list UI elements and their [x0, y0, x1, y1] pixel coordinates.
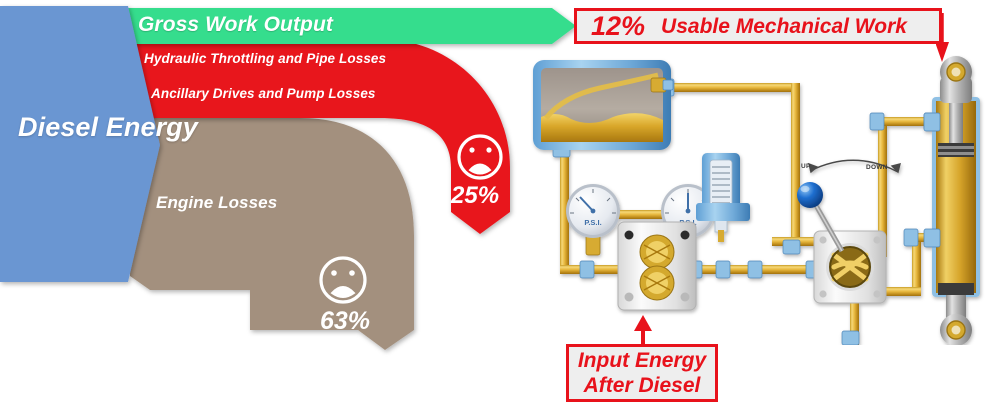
infographic-canvas: Gross Work Output Hydraulic Throttling a… [0, 0, 1000, 415]
engine-loss-percent: 63% [320, 307, 370, 336]
hydraulic-cylinder [924, 56, 980, 345]
usable-work-percent: 12% [591, 13, 645, 40]
lever-down-label: DOWN [866, 164, 888, 171]
ancillary-drives-label: Ancillary Drives and Pump Losses [151, 86, 376, 101]
engine-losses-band [130, 118, 414, 350]
input-energy-line2: After Diesel [584, 373, 701, 398]
engine-losses-label: Engine Losses [156, 193, 277, 213]
usable-work-text: Usable Mechanical Work [661, 16, 907, 37]
gear-pump [618, 222, 696, 310]
usable-work-callout: 12% Usable Mechanical Work [574, 8, 942, 44]
diesel-energy-label: Diesel Energy [18, 112, 146, 142]
lever-up-label: UP [801, 163, 811, 170]
reservoir-tank [533, 60, 673, 150]
hydraulic-loss-percent: 25% [451, 182, 499, 210]
hydraulic-throttling-label: Hydraulic Throttling and Pipe Losses [144, 51, 386, 66]
hydraulic-circuit-schematic: P.S.I. P.S.I. [520, 55, 1000, 345]
input-energy-callout: Input Energy After Diesel [566, 344, 718, 402]
directional-control-valve [814, 231, 886, 303]
gross-work-output-label: Gross Work Output [138, 13, 333, 37]
diesel-energy-block [0, 6, 160, 282]
pressure-gauge-left: P.S.I. [566, 184, 620, 255]
input-energy-line1: Input Energy [578, 348, 706, 373]
svg-text:P.S.I.: P.S.I. [584, 218, 601, 227]
